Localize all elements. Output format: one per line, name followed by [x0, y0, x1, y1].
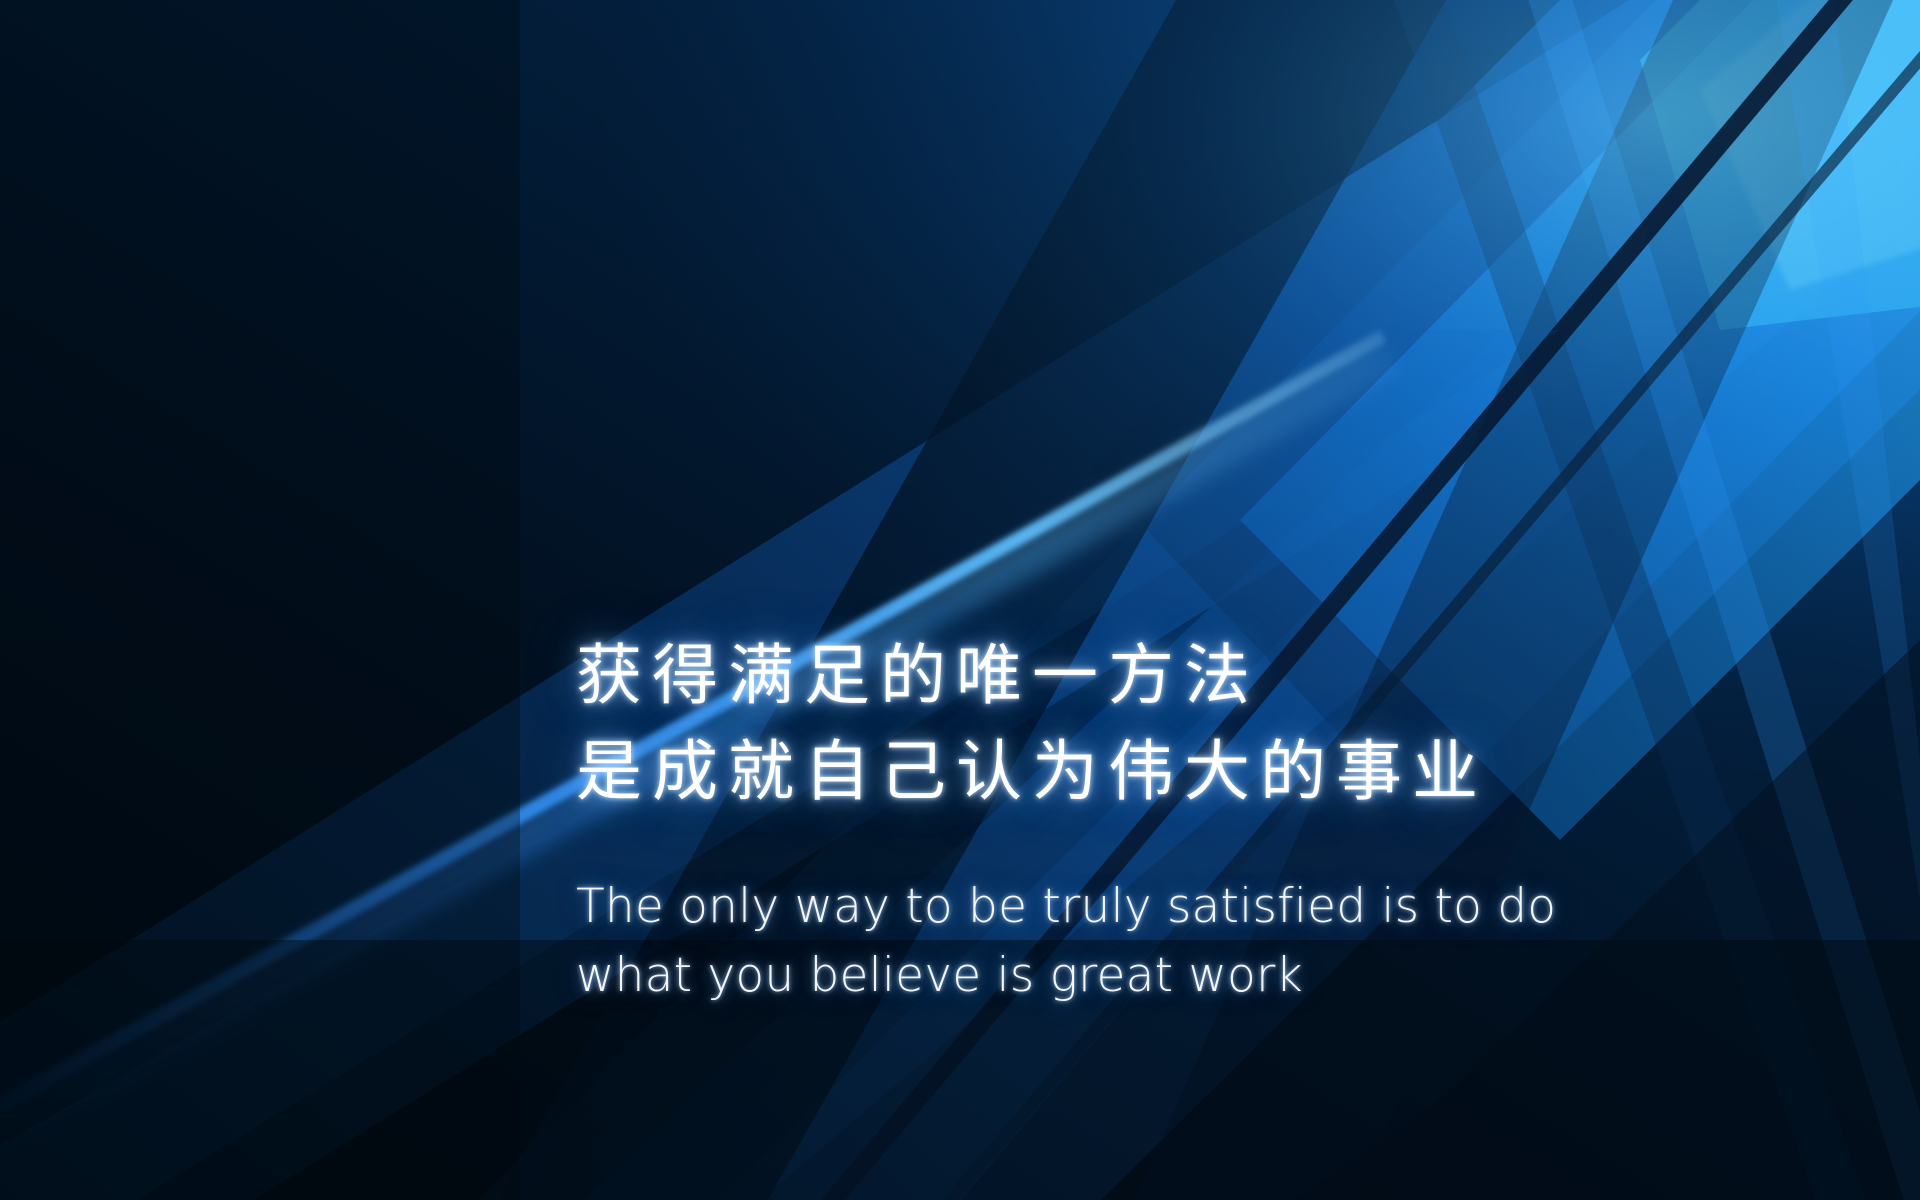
- chinese-quote-line-2: 是成就自己认为伟大的事业: [576, 724, 1756, 820]
- chinese-quote-line-1: 获得满足的唯一方法: [576, 628, 1756, 724]
- english-quote-line-2: what you believe is great work: [576, 941, 1756, 1010]
- abstract-background-art: [0, 0, 1920, 1200]
- chinese-quote: 获得满足的唯一方法 是成就自己认为伟大的事业: [576, 628, 1756, 820]
- english-quote: The only way to be truly satisfied is to…: [576, 872, 1756, 1010]
- wallpaper-canvas: 获得满足的唯一方法 是成就自己认为伟大的事业 The only way to b…: [0, 0, 1920, 1200]
- english-quote-line-1: The only way to be truly satisfied is to…: [576, 872, 1756, 941]
- quote-text-block: 获得满足的唯一方法 是成就自己认为伟大的事业 The only way to b…: [576, 628, 1756, 1010]
- left-vignette: [0, 0, 520, 1200]
